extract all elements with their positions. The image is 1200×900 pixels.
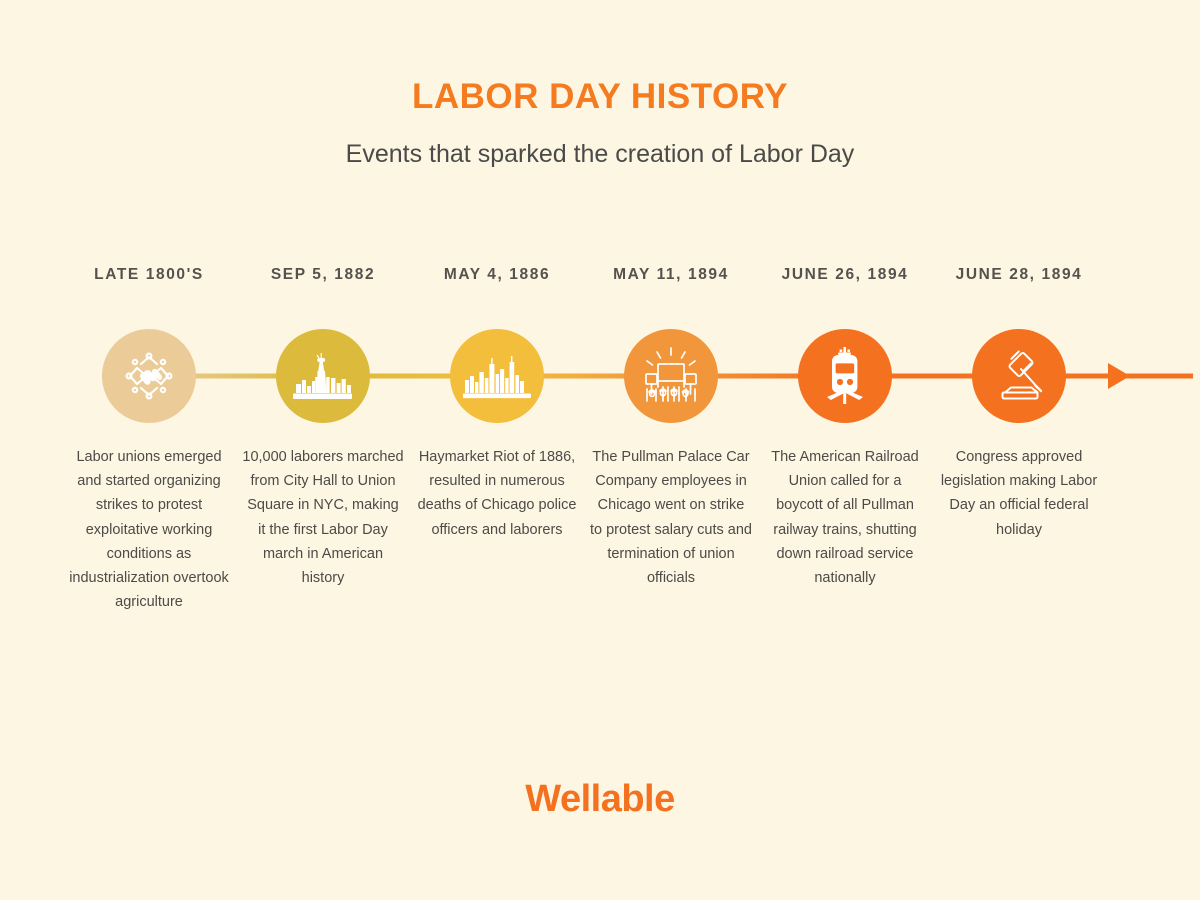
event-date: MAY 4, 1886 bbox=[410, 262, 584, 324]
event-marker-row bbox=[584, 324, 758, 428]
event-description: Haymarket Riot of 1886, resulted in nume… bbox=[410, 445, 584, 542]
nyc-skyline-statue-of-liberty-icon bbox=[290, 347, 356, 405]
timeline-event: SEP 5, 1882 bbox=[236, 262, 410, 590]
page-subtitle: Events that sparked the creation of Labo… bbox=[0, 139, 1200, 169]
event-description: The Pullman Palace Car Company employees… bbox=[584, 445, 758, 590]
event-description: 10,000 laborers marched from City Hall t… bbox=[236, 445, 410, 590]
gavel-icon bbox=[988, 346, 1050, 406]
event-date: JUNE 28, 1894 bbox=[932, 262, 1106, 324]
event-marker-row bbox=[62, 324, 236, 428]
handshake-teamwork-icon bbox=[118, 345, 180, 407]
event-marker-row bbox=[236, 324, 410, 428]
wellable-logo: Wellable bbox=[525, 778, 674, 820]
event-description: Congress approved legislation making Lab… bbox=[932, 445, 1106, 542]
event-marker-row bbox=[932, 324, 1106, 428]
event-icon-circle bbox=[798, 329, 892, 423]
event-icon-circle bbox=[624, 329, 718, 423]
timeline: LATE 1800'S Labor unions emerged and sta… bbox=[62, 262, 1138, 614]
train-icon bbox=[819, 345, 871, 407]
timeline-arrow-icon bbox=[1108, 363, 1130, 389]
event-description: Labor unions emerged and started organiz… bbox=[62, 445, 236, 614]
timeline-event: JUNE 26, 1894 The American bbox=[758, 262, 932, 590]
event-icon-circle bbox=[972, 329, 1066, 423]
protest-crowd-icon bbox=[636, 345, 706, 407]
footer: Wellable bbox=[0, 778, 1200, 821]
chicago-skyline-icon bbox=[462, 352, 532, 400]
timeline-event: JUNE 28, 1894 Congress approved legislat… bbox=[932, 262, 1106, 542]
header: LABOR DAY HISTORY Events that sparked th… bbox=[0, 78, 1200, 169]
event-icon-circle bbox=[102, 329, 196, 423]
event-date: LATE 1800'S bbox=[62, 262, 236, 324]
timeline-event: LATE 1800'S Labor unions emerged and sta… bbox=[62, 262, 236, 614]
timeline-event: MAY 11, 1894 The Pullman Palace Car Comp… bbox=[584, 262, 758, 590]
event-icon-circle bbox=[450, 329, 544, 423]
infographic-page: LABOR DAY HISTORY Events that sparked th… bbox=[0, 0, 1200, 900]
event-date: JUNE 26, 1894 bbox=[758, 262, 932, 324]
event-icon-circle bbox=[276, 329, 370, 423]
event-date: SEP 5, 1882 bbox=[236, 262, 410, 324]
event-marker-row bbox=[410, 324, 584, 428]
event-marker-row bbox=[758, 324, 932, 428]
event-description: The American Railroad Union called for a… bbox=[758, 445, 932, 590]
event-date: MAY 11, 1894 bbox=[584, 262, 758, 324]
page-title: LABOR DAY HISTORY bbox=[0, 78, 1200, 117]
timeline-event: MAY 4, 1886 bbox=[410, 262, 584, 542]
